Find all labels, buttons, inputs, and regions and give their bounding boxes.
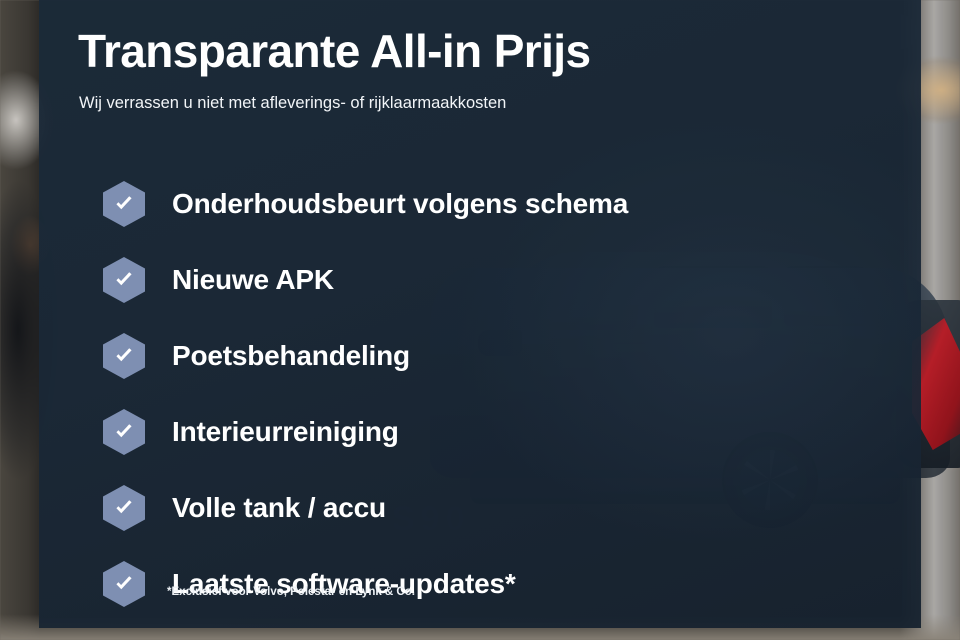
list-item-label: Nieuwe APK	[172, 264, 334, 296]
list-item-label: Onderhoudsbeurt volgens schema	[172, 188, 628, 220]
page-subtitle: Wij verrassen u niet met afleverings- of…	[79, 94, 506, 113]
promo-banner: S90 Transparante All-in Prijs Wij verras…	[0, 0, 960, 640]
check-hexagon-icon	[103, 561, 145, 607]
check-hexagon-icon	[103, 257, 145, 303]
check-hexagon-icon	[103, 409, 145, 455]
list-item: Nieuwe APK	[103, 242, 903, 318]
list-item: Volle tank / accu	[103, 470, 903, 546]
list-item-label: Volle tank / accu	[172, 492, 386, 524]
list-item: Laatste software-updates*	[103, 546, 903, 622]
list-item: Interieurreiniging	[103, 394, 903, 470]
check-hexagon-icon	[103, 181, 145, 227]
list-item-label: Interieurreiniging	[172, 416, 399, 448]
list-item: Poetsbehandeling	[103, 318, 903, 394]
panel-content: Transparante All-in Prijs Wij verrassen …	[39, 0, 921, 628]
footnote-text: *Exclusief voor Volvo, Polestar en Lynk …	[167, 586, 415, 598]
check-hexagon-icon	[103, 485, 145, 531]
check-hexagon-icon	[103, 333, 145, 379]
list-item-label: Poetsbehandeling	[172, 340, 410, 372]
list-item: Onderhoudsbeurt volgens schema	[103, 166, 903, 242]
page-title: Transparante All-in Prijs	[78, 27, 590, 75]
feature-list: Onderhoudsbeurt volgens schema Nieuwe AP…	[103, 166, 903, 622]
